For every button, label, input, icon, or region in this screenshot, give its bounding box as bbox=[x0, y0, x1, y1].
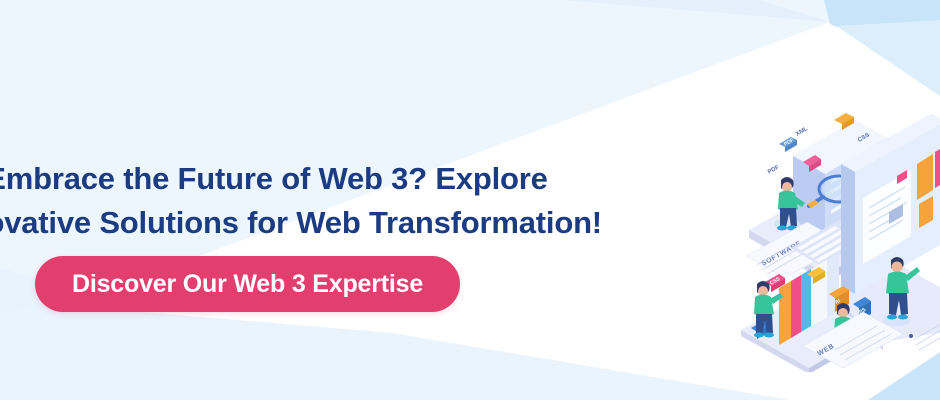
headline-line-2: nnovative Solutions for Web Transformati… bbox=[0, 201, 768, 245]
file-tag-xml: XML bbox=[795, 126, 809, 138]
isometric-illustration: PDF XML CSS PDF </> bbox=[735, 52, 940, 372]
banner-headline: to Embrace the Future of Web 3? Explore … bbox=[0, 157, 768, 245]
web3-promo-banner: to Embrace the Future of Web 3? Explore … bbox=[0, 0, 940, 400]
svg-text:PDF: PDF bbox=[767, 164, 781, 175]
monitor-screen-side bbox=[841, 164, 855, 294]
svg-text:XML: XML bbox=[795, 126, 809, 138]
headline-line-1: to Embrace the Future of Web 3? Explore bbox=[0, 157, 768, 201]
discover-web3-expertise-button[interactable]: Discover Our Web 3 Expertise bbox=[35, 256, 460, 312]
file-tag-pdf-2: PDF bbox=[767, 164, 781, 175]
file-tag-pdf-1: PDF bbox=[779, 137, 797, 152]
